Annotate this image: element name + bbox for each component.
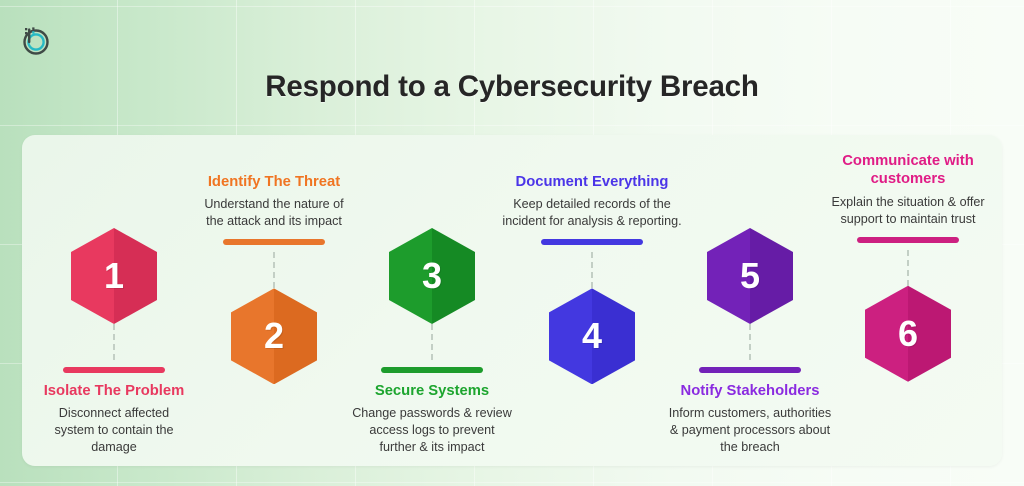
step-6-number: 6 (898, 316, 918, 352)
page-title: Respond to a Cybersecurity Breach (0, 70, 1024, 104)
step-6-accent-bar (857, 237, 959, 243)
step-2-accent-bar (223, 239, 325, 245)
step-1-number: 1 (104, 258, 124, 294)
step-2-number: 2 (264, 318, 284, 354)
step-1-headline: Isolate The Problem (44, 382, 185, 400)
step-4-number: 4 (582, 318, 602, 354)
step-1-accent-bar (63, 367, 165, 373)
step-3-connector (431, 324, 433, 360)
step-6[interactable]: Communicate with customers Explain the s… (808, 152, 1008, 382)
step-4-hexagon: 4 (549, 288, 635, 384)
step-4-accent-bar (541, 239, 643, 245)
step-5-accent-bar (699, 367, 801, 373)
step-3-number: 3 (422, 258, 442, 294)
step-3-accent-bar (381, 367, 483, 373)
step-2-body: Understand the nature of the attack and … (204, 196, 343, 230)
step-2-hexagon: 2 (231, 288, 317, 384)
step-6-body: Explain the situation & offer support to… (831, 194, 984, 228)
step-3-body: Change passwords & review access logs to… (352, 405, 512, 456)
infographic-canvas: Respond to a Cybersecurity Breach 1 Isol… (0, 0, 1024, 486)
brand-logo-icon[interactable] (17, 21, 51, 55)
step-6-hexagon: 6 (865, 286, 951, 382)
step-4-body: Keep detailed records of the incident fo… (502, 196, 681, 230)
step-1-body: Disconnect affected system to contain th… (54, 405, 173, 456)
step-5-body: Inform customers, authorities & payment … (669, 405, 831, 456)
step-2-connector (273, 252, 275, 288)
step-5-headline: Notify Stakeholders (681, 382, 820, 400)
step-4-connector (591, 252, 593, 288)
step-5-hexagon: 5 (707, 228, 793, 324)
step-1-connector (113, 324, 115, 360)
step-6-connector (907, 250, 909, 286)
step-2-headline: Identify The Threat (208, 173, 340, 191)
step-5-connector (749, 324, 751, 360)
step-4-headline: Document Everything (516, 173, 669, 191)
step-1-hexagon: 1 (71, 228, 157, 324)
step-3-headline: Secure Systems (375, 382, 489, 400)
step-6-headline: Communicate with customers (842, 152, 974, 189)
step-5-number: 5 (740, 258, 760, 294)
step-3-hexagon: 3 (389, 228, 475, 324)
